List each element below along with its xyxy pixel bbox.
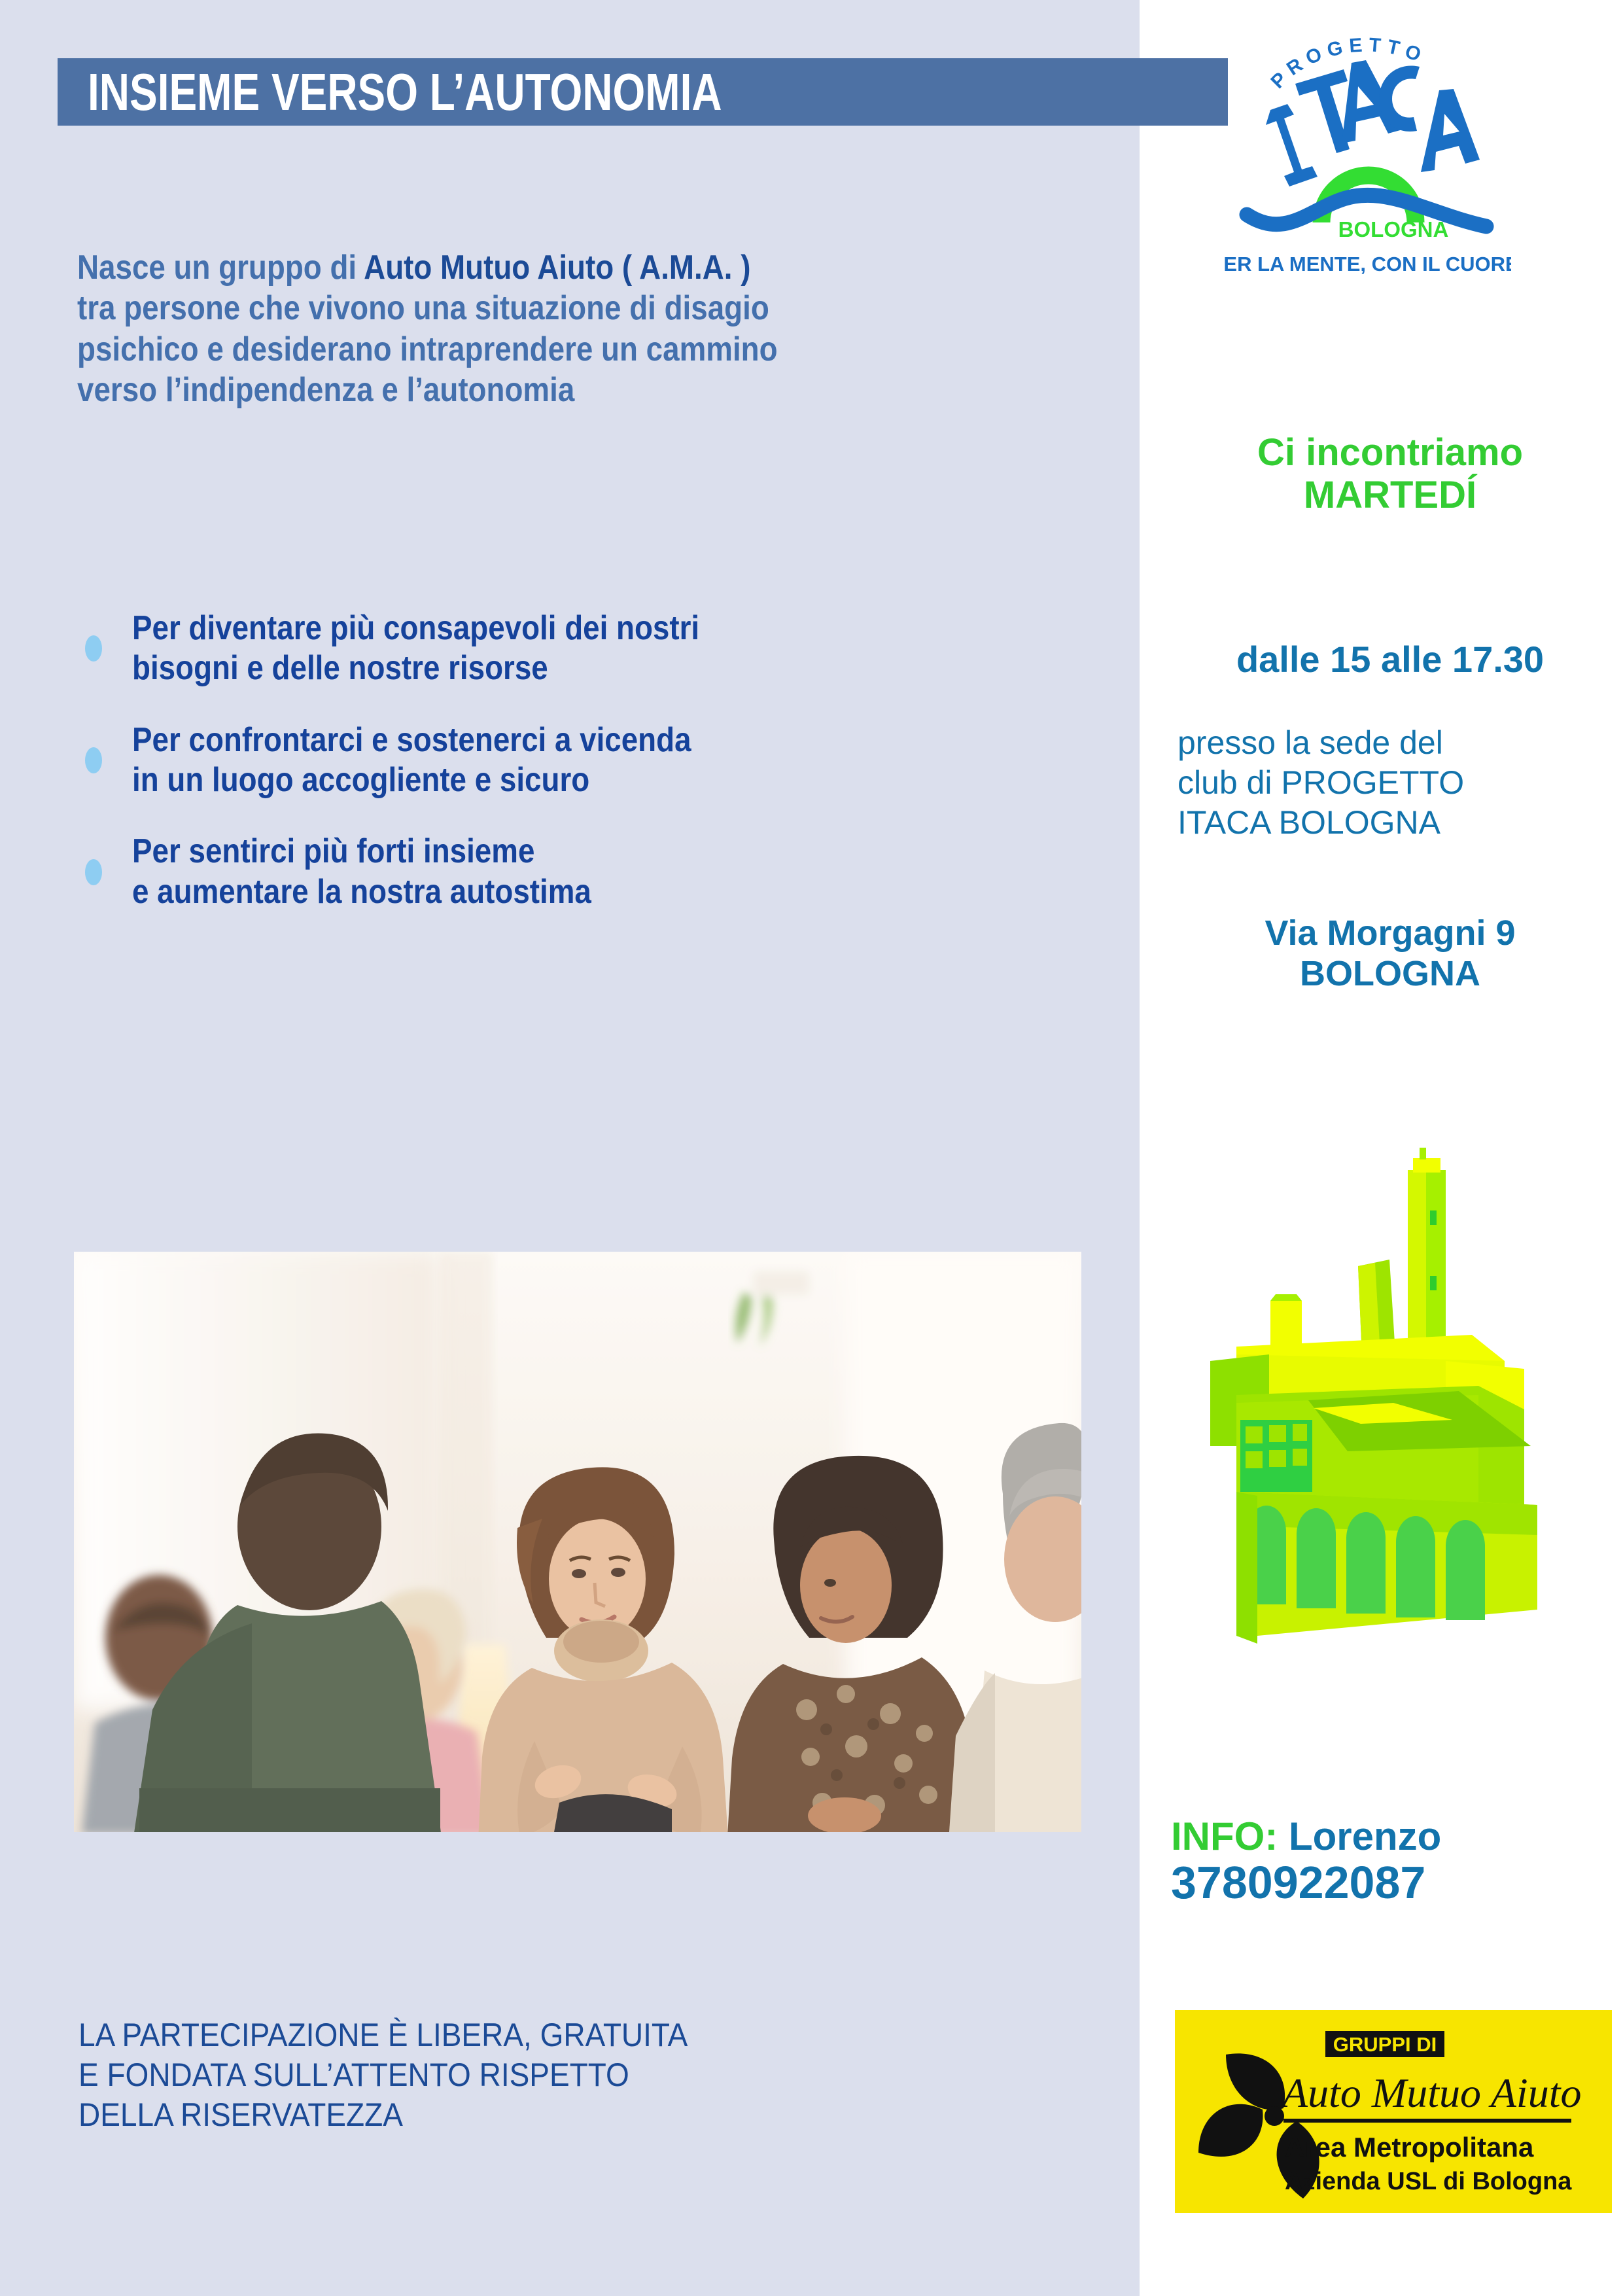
title-banner: INSIEME VERSO L’AUTONOMIA [58,58,1228,126]
list-item-line-1: Per confrontarci e sostenerci a vicenda [132,720,691,760]
contact-phone[interactable]: 3780922087 [1171,1858,1616,1908]
list-item-line-2: bisogni e delle nostre risorse [132,648,699,688]
venue-line-1: presso la sede del [1178,723,1596,763]
disclaimer-line-2: E FONDATA SULL’ATTENTO RISPETTO [79,2055,981,2095]
support-group-photo [74,1252,1081,1832]
ama-name-text: Auto Mutuo Aiuto [1280,2070,1581,2116]
svg-text:PER LA MENTE, CON IL CUORE.: PER LA MENTE, CON IL CUORE. [1223,253,1511,275]
intro-paragraph: Nasce un gruppo di Auto Mutuo Aiuto ( A.… [77,247,998,411]
list-item: Per diventare più consapevoli dei nostri… [85,609,1132,689]
ama-org-line-2: Azienda USL di Bologna [1285,2168,1572,2195]
intro-line-2: tra persone che vivono una situazione di… [77,288,998,328]
intro-line-3: psichico e desiderano intraprendere un c… [77,329,998,370]
ama-usl-bologna-logo: GRUPPI DI Auto Mutuo Aiuto Area Metropol… [1175,2010,1612,2213]
meeting-headline-line-1: Ci incontriamo [1257,431,1523,474]
ama-badge-text: GRUPPI DI [1333,2033,1437,2056]
bullet-dot-icon [85,635,102,662]
venue-line-3: ITACA BOLOGNA [1178,803,1596,843]
list-item-line-1: Per sentirci più forti insieme [132,832,591,872]
list-item: Per sentirci più forti insieme e aumenta… [85,832,1132,912]
svg-text:BOLOGNA: BOLOGNA [1338,217,1449,241]
meeting-hours: dalle 15 alle 17.30 [1174,638,1606,680]
intro-ama-emphasis: Auto Mutuo Aiuto ( A.M.A. ) [364,249,750,287]
contact-info-line: INFO: Lorenzo [1171,1816,1616,1858]
contact-name: Lorenzo [1289,1814,1441,1858]
intro-line-1-lead: Nasce un gruppo di [77,249,364,287]
intro-line-1: Nasce un gruppo di Auto Mutuo Aiuto ( A.… [77,247,998,288]
bullet-dot-icon [85,859,102,885]
intro-line-4: verso l’indipendenza e l’autonomia [77,370,998,410]
address-city: BOLOGNA [1174,953,1606,994]
list-item-line-2: e aumentare la nostra autostima [132,872,591,912]
benefits-list: Per diventare più consapevoli dei nostri… [85,609,1132,944]
participation-disclaimer: LA PARTECIPAZIONE È LIBERA, GRATUITA E F… [79,2015,981,2135]
page-title: INSIEME VERSO L’AUTONOMIA [88,66,722,118]
list-item: Per confrontarci e sostenerci a vicenda … [85,720,1132,801]
list-item-text: Per diventare più consapevoli dei nostri… [132,609,699,689]
bullet-dot-icon [85,747,102,773]
list-item-text: Per confrontarci e sostenerci a vicenda … [132,720,691,801]
address-street: Via Morgagni 9 [1265,913,1515,953]
meeting-day: MARTEDÍ [1174,474,1606,517]
disclaimer-line-3: DELLA RISERVATEZZA [79,2095,981,2135]
disclaimer-line-1: LA PARTECIPAZIONE È LIBERA, GRATUITA [79,2015,981,2055]
info-label: INFO: [1171,1814,1278,1858]
list-item-line-1: Per diventare più consapevoli dei nostri [132,609,699,648]
contact-info: INFO: Lorenzo 3780922087 [1171,1816,1616,1907]
venue-line-2: club di PROGETTO [1178,763,1596,803]
progetto-itaca-bologna-logo: PROGETTO BOLOGNA PER LA MENTE, CON IL CU… [1223,7,1511,285]
list-item-text: Per sentirci più forti insieme e aumenta… [132,832,591,912]
svg-text:PROGETTO: PROGETTO [1267,34,1430,93]
meeting-headline: Ci incontriamo MARTEDÍ [1174,432,1606,517]
bologna-two-towers-icon [1197,1139,1622,1727]
meeting-venue: presso la sede del club di PROGETTO ITAC… [1178,723,1596,843]
list-item-line-2: in un luogo accogliente e sicuro [132,760,691,800]
ama-org-line-1: Area Metropolitana [1285,2132,1534,2163]
meeting-address: Via Morgagni 9 BOLOGNA [1174,913,1606,994]
